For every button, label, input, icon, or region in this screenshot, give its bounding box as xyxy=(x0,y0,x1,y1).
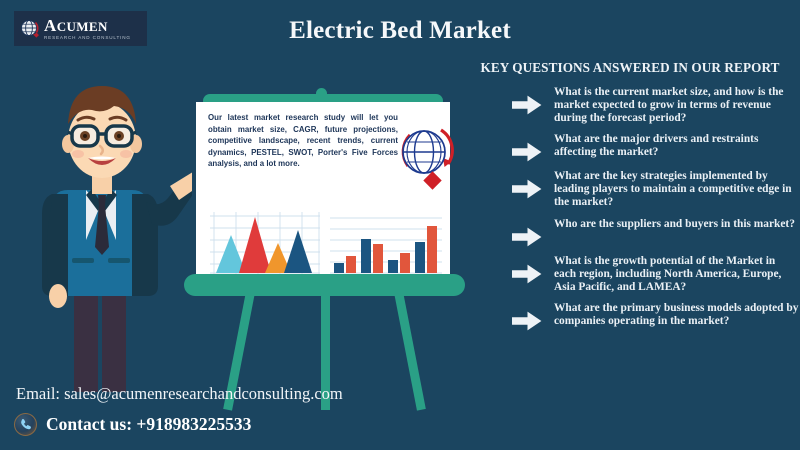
arrow-right-icon xyxy=(512,264,546,284)
arrow-right-icon xyxy=(512,142,546,162)
list-item: What is the growth potential of the Mark… xyxy=(512,255,800,294)
whiteboard: Our latest market research study will le… xyxy=(196,102,450,278)
globe-icon xyxy=(19,18,40,39)
arrow-right-icon xyxy=(512,227,546,247)
logo-tagline: RESEARCH AND CONSULTING xyxy=(44,36,131,41)
arrow-right-icon xyxy=(512,95,546,115)
bar-chart xyxy=(330,212,442,274)
key-questions-heading: KEY QUESTIONS ANSWERED IN OUR REPORT xyxy=(462,60,798,76)
globe-arrow-icon xyxy=(396,122,458,198)
whiteboard-text: Our latest market research study will le… xyxy=(208,112,398,170)
list-item-label: What are the primary business models ado… xyxy=(546,302,800,328)
area-chart xyxy=(210,212,320,274)
list-item-label: What are the major drivers and restraint… xyxy=(546,133,800,159)
phone-icon xyxy=(14,413,37,436)
logo-wordmark: ACUMEN xyxy=(44,17,131,34)
company-logo: ACUMEN RESEARCH AND CONSULTING xyxy=(14,11,147,46)
list-item-label: What is the current market size, and how… xyxy=(546,86,800,125)
easel-leg-right xyxy=(394,291,426,411)
contact-label: Contact us: +918983225533 xyxy=(46,414,251,435)
list-item: What are the major drivers and restraint… xyxy=(512,133,800,162)
arrow-right-icon xyxy=(512,311,546,331)
list-item: What are the primary business models ado… xyxy=(512,302,800,331)
key-questions-list: What is the current market size, and how… xyxy=(512,86,800,339)
contact-info: Contact us: +918983225533 xyxy=(14,413,251,436)
easel: Our latest market research study will le… xyxy=(178,88,470,388)
email-label: Email: sales@acumenresearchandconsulting… xyxy=(16,384,343,404)
list-item: What are the key strategies implemented … xyxy=(512,170,800,209)
arrow-right-icon xyxy=(512,179,546,199)
list-item-label: What is the growth potential of the Mark… xyxy=(546,255,800,294)
page-title: Electric Bed Market xyxy=(255,17,545,45)
list-item: Who are the suppliers and buyers in this… xyxy=(512,218,800,247)
list-item-label: What are the key strategies implemented … xyxy=(546,170,800,209)
infographic-page: ACUMEN RESEARCH AND CONSULTING Electric … xyxy=(0,0,800,450)
list-item: What is the current market size, and how… xyxy=(512,86,800,125)
list-item-label: Who are the suppliers and buyers in this… xyxy=(546,218,795,231)
businessman-presenter-illustration xyxy=(12,62,192,392)
